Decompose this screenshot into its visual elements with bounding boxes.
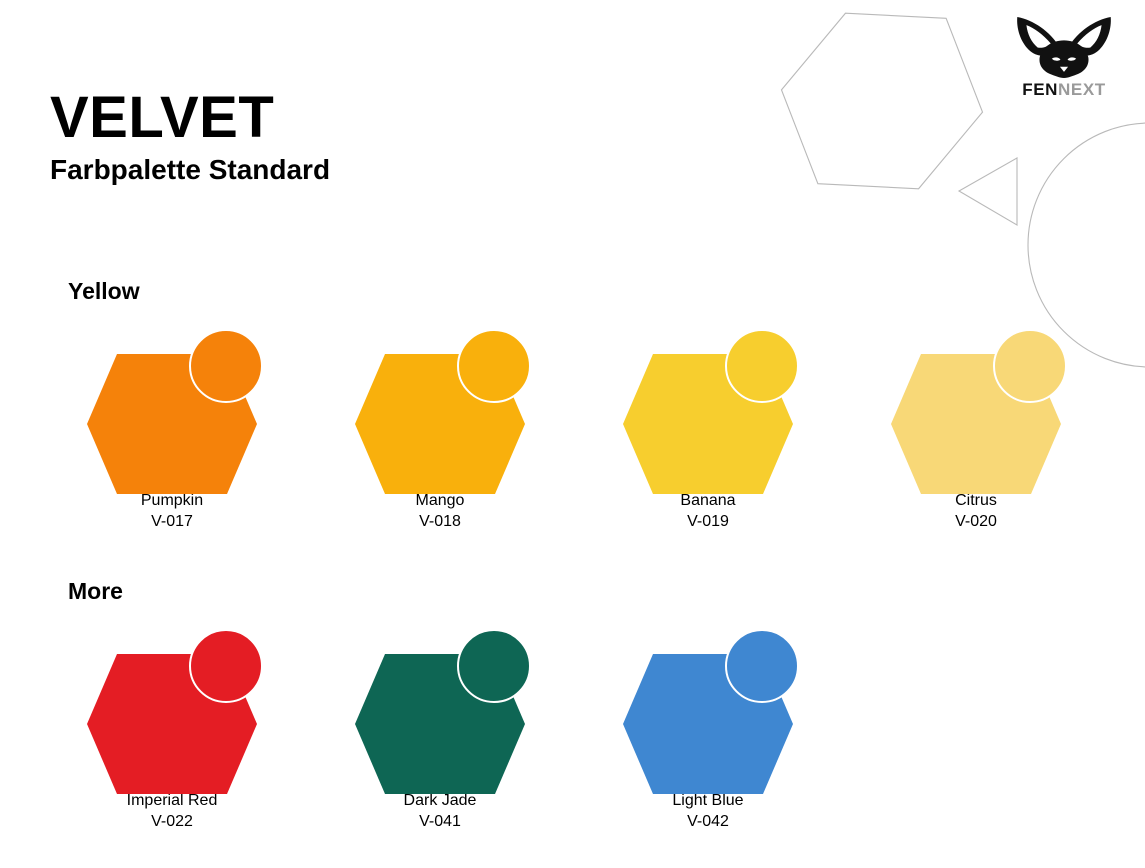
group-title: Yellow — [68, 278, 1145, 306]
swatch-caption: Mango V-018 — [330, 490, 550, 532]
swatch-code: V-020 — [866, 511, 1086, 532]
swatch-circle-overlay — [994, 330, 1066, 402]
color-swatch[interactable]: Light Blue V-042 — [598, 626, 818, 832]
swatch-caption: Banana V-019 — [598, 490, 818, 532]
swatch-circle-overlay — [458, 630, 530, 702]
swatch-caption: Light Blue V-042 — [598, 790, 818, 832]
swatch-code: V-042 — [598, 811, 818, 832]
page-subtitle: Farbpalette Standard — [50, 155, 330, 186]
color-swatch[interactable]: Banana V-019 — [598, 326, 818, 532]
triangle-outline — [959, 158, 1017, 225]
fennec-fox-head-icon — [1012, 14, 1116, 80]
swatch-code: V-022 — [62, 811, 282, 832]
group-title: More — [68, 578, 1145, 606]
swatch-circle-overlay — [458, 330, 530, 402]
swatch-shape — [62, 626, 282, 781]
swatch-shape — [598, 626, 818, 781]
swatch-shape — [62, 326, 282, 481]
swatch-shape — [866, 326, 1086, 481]
color-group-more: More Imperial Red V-022 — [0, 578, 1145, 841]
slide-canvas: FENNEXT VELVET Farbpalette Standard Yell… — [0, 0, 1145, 868]
swatch-circle-overlay — [190, 330, 262, 402]
swatch-code: V-041 — [330, 811, 550, 832]
color-group-yellow: Yellow Pumpkin V-017 — [0, 278, 1145, 541]
title-block: VELVET Farbpalette Standard — [50, 88, 330, 186]
swatch-caption: Imperial Red V-022 — [62, 790, 282, 832]
color-swatch[interactable]: Mango V-018 — [330, 326, 550, 532]
brand-wordmark: FENNEXT — [1005, 81, 1123, 98]
hexagon-outline — [772, 0, 992, 206]
brand-word-primary: FEN — [1022, 80, 1058, 99]
swatch-circle-overlay — [726, 630, 798, 702]
color-swatch[interactable]: Pumpkin V-017 — [62, 326, 282, 532]
swatch-caption: Pumpkin V-017 — [62, 490, 282, 532]
brand-logo: FENNEXT — [1005, 14, 1123, 110]
swatch-row: Pumpkin V-017 Mango V-018 — [0, 326, 1145, 541]
swatch-code: V-017 — [62, 511, 282, 532]
brand-word-secondary: NEXT — [1058, 80, 1106, 99]
swatch-code: V-018 — [330, 511, 550, 532]
swatch-caption: Citrus V-020 — [866, 490, 1086, 532]
swatch-code: V-019 — [598, 511, 818, 532]
swatch-shape — [330, 326, 550, 481]
page-title: VELVET — [50, 88, 330, 149]
swatch-circle-overlay — [726, 330, 798, 402]
swatch-row: Imperial Red V-022 Dark Jade V-041 — [0, 626, 1145, 841]
swatch-caption: Dark Jade V-041 — [330, 790, 550, 832]
color-swatch[interactable]: Imperial Red V-022 — [62, 626, 282, 832]
swatch-circle-overlay — [190, 630, 262, 702]
swatch-shape — [330, 626, 550, 781]
swatch-shape — [598, 326, 818, 481]
color-swatch[interactable]: Dark Jade V-041 — [330, 626, 550, 832]
color-swatch[interactable]: Citrus V-020 — [866, 326, 1086, 532]
